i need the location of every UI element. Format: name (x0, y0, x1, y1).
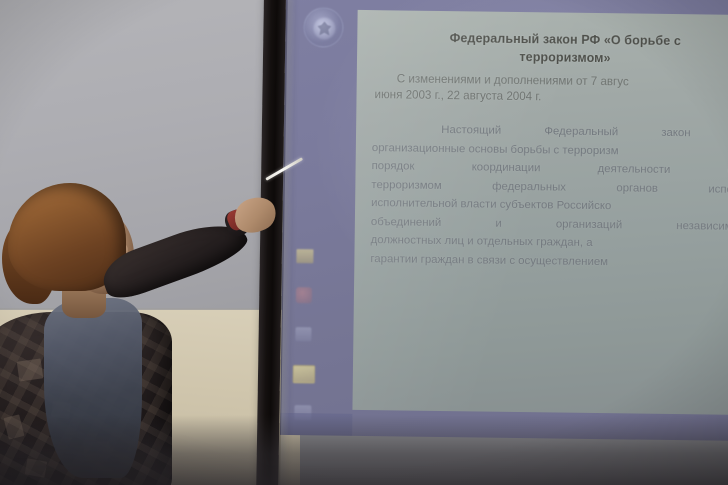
body-word: координации (472, 159, 541, 178)
body-word: федеральных (492, 177, 566, 196)
body-word: организаций (556, 215, 623, 234)
body-word: Федеральный (544, 123, 618, 142)
slide-subtitle-line-2: июня 2003 г., 22 августа 2004 г. (374, 87, 728, 108)
body-word: органов (616, 179, 658, 198)
body-word: Настоящий (441, 121, 501, 140)
presenter (0, 170, 300, 485)
body-word: объединений (371, 213, 442, 232)
jacket-patch (17, 358, 44, 381)
body-word: закон (661, 124, 691, 143)
body-word: испол (708, 180, 728, 199)
body-word: терроризмом (371, 176, 442, 195)
projection-screen: Федеральный закон РФ «О борьбе с террори… (280, 0, 728, 441)
institution-emblem-icon (303, 7, 344, 48)
body-word: и (495, 214, 502, 233)
presenter-scarf (44, 298, 142, 478)
body-line: гарантии граждан в связи с осуществление… (370, 250, 728, 273)
slide-subtitle: С изменениями и дополнениями от 7 авгус … (372, 71, 728, 108)
photo-scene: Федеральный закон РФ «О борьбе с террори… (0, 0, 728, 485)
presentation-slide: Федеральный закон РФ «О борьбе с террори… (352, 10, 728, 415)
slide-body: Настоящий Федеральный закон о организаци… (370, 120, 728, 273)
jacket-patch (25, 458, 47, 477)
body-word: деятельности (598, 160, 671, 179)
slide-title: Федеральный закон РФ «О борьбе с террори… (373, 24, 728, 69)
body-word: независимо (676, 217, 728, 236)
subtitle-text-1: С изменениями и дополнениями от 7 авгус (397, 73, 629, 89)
body-word: порядок (371, 157, 414, 176)
